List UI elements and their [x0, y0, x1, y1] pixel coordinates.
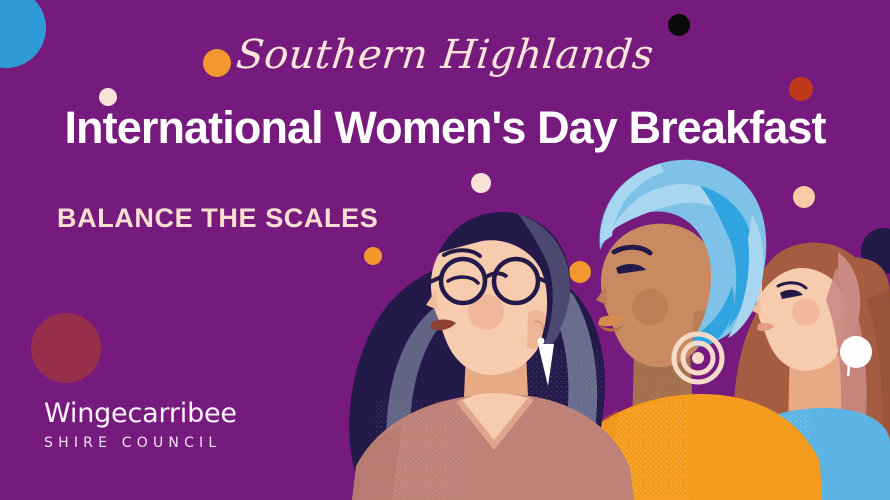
concentric-hoop-earring: [674, 334, 722, 382]
event-sub-title: BALANCE THE SCALES: [57, 203, 378, 234]
wingecarribee-shire-council-logo[interactable]: Wingecarribee SHIRE COUNCIL: [44, 400, 237, 450]
event-main-title: International Women's Day Breakfast: [0, 103, 890, 153]
event-script-title: Southern Highlands: [0, 34, 890, 76]
figure-woman-left: [349, 212, 634, 500]
logo-wordmark: Wingecarribee: [44, 400, 237, 427]
logo-submark: SHIRE COUNCIL: [44, 436, 237, 450]
iwd-breakfast-banner: Southern Highlands International Women's…: [0, 0, 890, 500]
